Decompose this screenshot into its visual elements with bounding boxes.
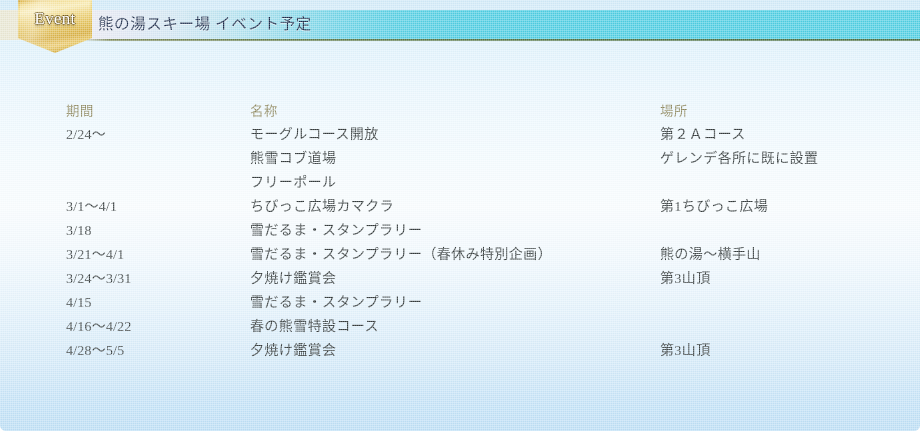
cell-place: 第3山頂 — [660, 340, 711, 364]
cell-period: 3/1〜4/1 — [66, 196, 117, 220]
cell-name: ちびっこ広場カマクラ — [250, 196, 394, 220]
table-row: フリーポール — [66, 172, 896, 196]
table-header-row: 期間 名称 場所 — [66, 100, 896, 124]
cell-name: 熊雪コブ道場 — [250, 148, 336, 172]
event-schedule-table: 期間 名称 場所 2/24〜 モーグルコース開放 第２Ａコース 熊雪コブ道場 ゲ… — [66, 100, 896, 364]
table-row: 4/28〜5/5 夕焼け鑑賞会 第3山頂 — [66, 340, 896, 364]
column-header-name: 名称 — [250, 100, 278, 124]
cell-name: 雪だるま・スタンプラリー — [250, 292, 422, 316]
cell-period: 4/28〜5/5 — [66, 340, 124, 364]
cell-period: 2/24〜 — [66, 124, 106, 148]
cell-period: 4/16〜4/22 — [66, 316, 132, 340]
cell-period: 3/21〜4/1 — [66, 244, 124, 268]
table-row: 3/18 雪だるま・スタンプラリー — [66, 220, 896, 244]
cell-period: 3/18 — [66, 220, 92, 244]
table-row: 4/16〜4/22 春の熊雪特設コース — [66, 316, 896, 340]
table-row: 3/24〜3/31 夕焼け鑑賞会 第3山頂 — [66, 268, 896, 292]
cell-name: 雪だるま・スタンプラリー（春休み特別企画） — [250, 244, 552, 268]
event-ribbon-badge: Event — [18, 0, 92, 53]
cell-place: 第1ちびっこ広場 — [660, 196, 768, 220]
cell-period: 4/15 — [66, 292, 92, 316]
cell-name: フリーポール — [250, 172, 336, 196]
table-row: 3/1〜4/1 ちびっこ広場カマクラ 第1ちびっこ広場 — [66, 196, 896, 220]
table-row: 4/15 雪だるま・スタンプラリー — [66, 292, 896, 316]
column-header-place: 場所 — [660, 100, 688, 124]
cell-name: 雪だるま・スタンプラリー — [250, 220, 422, 244]
cell-period: 3/24〜3/31 — [66, 268, 132, 292]
cell-place: 第3山頂 — [660, 268, 711, 292]
event-ribbon-label: Event — [18, 0, 92, 38]
column-header-period: 期間 — [66, 100, 94, 124]
cell-name: モーグルコース開放 — [250, 124, 379, 148]
cell-place: ゲレンデ各所に既に設置 — [660, 148, 818, 172]
cell-name: 夕焼け鑑賞会 — [250, 268, 336, 292]
cell-place: 第２Ａコース — [660, 124, 746, 148]
page-title: 熊の湯スキー場 イベント予定 — [98, 10, 312, 40]
cell-name: 春の熊雪特設コース — [250, 316, 379, 340]
cell-place: 熊の湯〜横手山 — [660, 244, 761, 268]
event-schedule-page: 熊の湯スキー場 イベント予定 Event 期間 名称 場所 2/24〜 モーグル… — [0, 0, 920, 431]
table-row: 3/21〜4/1 雪だるま・スタンプラリー（春休み特別企画） 熊の湯〜横手山 — [66, 244, 896, 268]
table-row: 2/24〜 モーグルコース開放 第２Ａコース — [66, 124, 896, 148]
table-row: 熊雪コブ道場 ゲレンデ各所に既に設置 — [66, 148, 896, 172]
cell-name: 夕焼け鑑賞会 — [250, 340, 336, 364]
page-header: 熊の湯スキー場 イベント予定 Event — [0, 0, 920, 58]
